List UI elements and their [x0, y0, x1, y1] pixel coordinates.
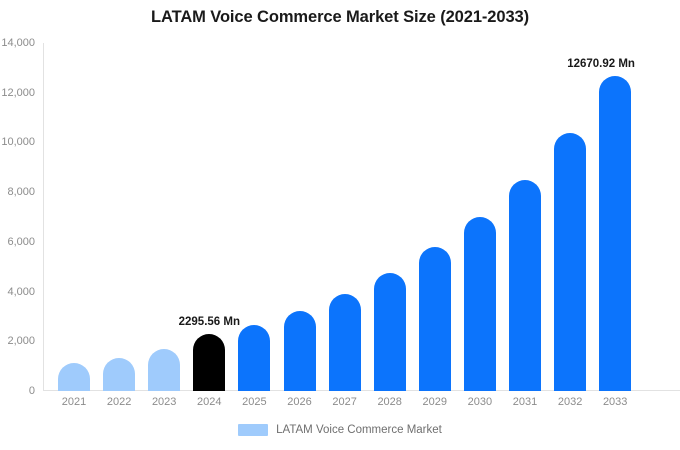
bar-2026[interactable] [284, 311, 316, 391]
bar-2032[interactable] [554, 133, 586, 392]
bar-2025[interactable] [238, 325, 270, 391]
bar-2029[interactable] [419, 247, 451, 391]
legend-item-label: LATAM Voice Commerce Market [276, 424, 442, 436]
bar-2023[interactable] [148, 349, 180, 391]
legend-item[interactable]: LATAM Voice Commerce Market [238, 424, 442, 436]
legend-swatch-icon [238, 424, 268, 436]
y-axis-tick-8000: 8,000 [0, 186, 35, 198]
bar-2030[interactable] [464, 217, 496, 391]
bar-chart: LATAM Voice Commerce Market Size (2021-2… [0, 0, 680, 450]
y-axis-tick-6000: 6,000 [0, 236, 35, 248]
bar-2021[interactable] [58, 363, 90, 391]
chart-legend: LATAM Voice Commerce Market [0, 424, 680, 436]
data-label-2033: 12670.92 Mn [567, 58, 635, 70]
bar-2022[interactable] [103, 358, 135, 391]
bar-2024[interactable] [193, 334, 225, 391]
chart-title: LATAM Voice Commerce Market Size (2021-2… [0, 8, 680, 27]
y-axis-tick-10000: 10,000 [0, 136, 35, 148]
y-axis-tick-4000: 4,000 [0, 286, 35, 298]
y-axis-tick-12000: 12,000 [0, 87, 35, 99]
y-axis-tick-14000: 14,000 [0, 37, 35, 49]
bars-layer [43, 43, 680, 391]
y-axis-tick-2000: 2,000 [0, 335, 35, 347]
bar-2028[interactable] [374, 273, 406, 391]
x-axis-tick-2033: 2033 [585, 396, 645, 408]
bar-2027[interactable] [329, 294, 361, 391]
bar-2031[interactable] [509, 180, 541, 391]
plot-area [43, 43, 680, 391]
x-axis-tick-labels: 2021202220232024202520262027202820292030… [43, 396, 680, 414]
data-label-2024: 2295.56 Mn [149, 316, 269, 328]
bar-2033[interactable] [599, 76, 631, 391]
y-axis-tick-0: 0 [0, 385, 35, 397]
